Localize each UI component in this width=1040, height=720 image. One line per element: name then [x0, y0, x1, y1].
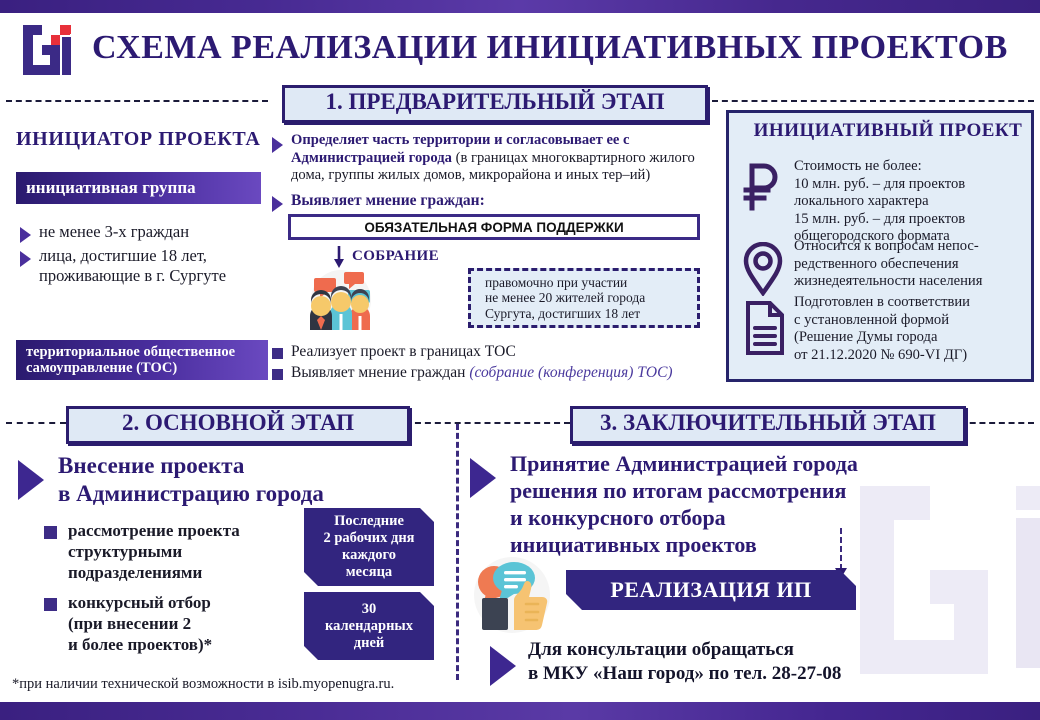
triangle-bullet-icon	[20, 251, 31, 267]
tos-point-2-italic: (собрание (конференция) ТОС)	[469, 364, 672, 381]
implementation-ribbon: РЕАЛИЗАЦИЯ ИП	[566, 570, 856, 610]
document-icon	[744, 300, 786, 356]
assembly-label: СОБРАНИЕ	[352, 248, 439, 265]
location-pin-icon	[742, 242, 784, 296]
initiator-requirement-1: не менее 3-х граждан	[20, 222, 189, 243]
tos-point-2-label: Выявляет мнение граждан	[291, 364, 469, 381]
stage2-heading: Внесение проекта в Администрацию города	[58, 452, 324, 508]
tos-chip-label: территориальное общественное самоуправле…	[26, 344, 235, 376]
mandatory-support-label: ОБЯЗАТЕЛЬНАЯ ФОРМА ПОДДЕРЖКИ	[364, 220, 623, 235]
divider-left-mid	[6, 422, 66, 424]
page-title: СХЕМА РЕАЛИЗАЦИИ ИНИЦИАТИВНЫХ ПРОЕКТОВ	[92, 24, 1022, 72]
infographic-root: СХЕМА РЕАЛИЗАЦИИ ИНИЦИАТИВНЫХ ПРОЕКТОВ 1…	[0, 0, 1040, 720]
stage1-bullet-2: Выявляет мнение граждан:	[272, 192, 485, 212]
project-item-3-text: Подготовлен в соответствии с установленн…	[794, 294, 1034, 364]
bottom-decorative-bar	[0, 702, 1040, 720]
tos-chip: территориальное общественное самоуправле…	[16, 340, 268, 380]
implementation-ribbon-label: РЕАЛИЗАЦИЯ ИП	[610, 577, 811, 603]
stage2-heading-row: Внесение проекта в Администрацию города	[18, 452, 324, 508]
stage2-badge-2-label: 30 календарных дней	[325, 601, 413, 652]
stage-2-banner-label: 2. ОСНОВНОЙ ЭТАП	[122, 410, 354, 435]
page-header: СХЕМА РЕАЛИЗАЦИИ ИНИЦИАТИВНЫХ ПРОЕКТОВ	[0, 13, 1040, 85]
thumbs-up-chat-icon	[470, 556, 554, 634]
triangle-bullet-large-icon	[470, 458, 496, 498]
down-arrow-icon	[332, 246, 346, 268]
assembly-note-label: правомочно при участии не менее 20 жител…	[471, 275, 645, 322]
initiator-requirement-1-label: не менее 3-х граждан	[39, 222, 189, 242]
stage2-point-1-label: рассмотрение проекта структурными подраз…	[68, 520, 240, 583]
stage1-bullet-2-label: Выявляет мнение граждан:	[291, 192, 485, 210]
initiator-title: ИНИЦИАТОР ПРОЕКТА	[16, 128, 260, 151]
initiator-requirement-2-label: лица, достигшие 18 лет, проживающие в г.…	[39, 246, 226, 286]
ruble-icon	[742, 160, 782, 212]
square-bullet-icon	[44, 598, 57, 611]
stage2-badge-1: Последние 2 рабочих дня каждого месяца	[304, 508, 434, 586]
square-bullet-icon	[44, 526, 57, 539]
stage-3-banner: 3. ЗАКЛЮЧИТЕЛЬНЫЙ ЭТАП	[570, 406, 966, 444]
top-decorative-bar	[0, 0, 1040, 13]
stage2-footnote: *при наличии технической возможности в i…	[12, 676, 394, 693]
stage1-bullet-1: Определяет часть территории и согласовыв…	[272, 132, 702, 185]
tos-point-1: Реализует проект в границах ТОС	[272, 343, 516, 361]
project-item-2-text: Относится к вопросам непос- редственного…	[794, 238, 1034, 291]
initiator-title-label: ИНИЦИАТОР ПРОЕКТА	[16, 128, 260, 150]
stage-1-banner-label: 1. ПРЕДВАРИТЕЛЬНЫЙ ЭТАП	[325, 89, 664, 114]
tos-point-2: Выявляет мнение граждан (собрание (конфе…	[272, 364, 673, 382]
stage3-contact-label: Для консультации обращаться в МКУ «Наш г…	[528, 638, 841, 686]
stage-2-banner: 2. ОСНОВНОЙ ЭТАП	[66, 406, 410, 444]
watermark-logo	[820, 476, 1040, 706]
stage2-badge-1-label: Последние 2 рабочих дня каждого месяца	[323, 513, 414, 581]
mandatory-support-box: ОБЯЗАТЕЛЬНАЯ ФОРМА ПОДДЕРЖКИ	[288, 214, 700, 240]
surgut-g-logo	[18, 21, 80, 79]
stage2-point-2-label: конкурсный отбор (при внесении 2 и более…	[68, 592, 212, 655]
square-bullet-icon	[272, 369, 283, 380]
triangle-bullet-icon	[272, 196, 283, 212]
initiative-group-chip: инициативная группа	[16, 172, 261, 204]
assembly-label-text: СОБРАНИЕ	[352, 248, 439, 264]
stage3-contact-row: Для консультации обращаться в МКУ «Наш г…	[490, 638, 841, 686]
triangle-bullet-large-icon	[490, 646, 516, 686]
stage-1-banner: 1. ПРЕДВАРИТЕЛЬНЫЙ ЭТАП	[282, 85, 708, 123]
divider-right-mid	[960, 422, 1034, 424]
stage2-badge-2: 30 календарных дней	[304, 592, 434, 660]
divider-right-top	[712, 100, 1034, 102]
square-bullet-icon	[272, 348, 283, 359]
divider-left-top	[6, 100, 268, 102]
stage2-point-2: конкурсный отбор (при внесении 2 и более…	[44, 592, 294, 655]
stage-3-banner-label: 3. ЗАКЛЮЧИТЕЛЬНЫЙ ЭТАП	[600, 410, 936, 435]
stage3-heading-row: Принятие Администрацией города решения п…	[470, 450, 858, 558]
initiative-project-title-label: ИНИЦИАТИВНЫЙ ПРОЕКТ	[754, 120, 1023, 141]
project-item-1-text: Стоимость не более: 10 млн. руб. – для п…	[794, 158, 1032, 246]
triangle-bullet-large-icon	[18, 460, 44, 500]
assembly-note-box: правомочно при участии не менее 20 жител…	[468, 268, 700, 328]
initiative-project-title: ИНИЦИАТИВНЫЙ ПРОЕКТ	[748, 120, 1028, 142]
people-meeting-icon	[300, 268, 376, 332]
triangle-bullet-icon	[20, 227, 31, 243]
stage2-point-1: рассмотрение проекта структурными подраз…	[44, 520, 294, 583]
initiator-requirement-2: лица, достигшие 18 лет, проживающие в г.…	[20, 246, 226, 286]
triangle-bullet-icon	[272, 137, 283, 153]
stage3-heading: Принятие Администрацией города решения п…	[510, 450, 858, 558]
initiative-group-label: инициативная группа	[26, 178, 196, 198]
tos-point-1-label: Реализует проект в границах ТОС	[291, 343, 516, 361]
divider-between-stage2-3	[405, 422, 570, 424]
divider-vertical-center	[456, 424, 459, 680]
